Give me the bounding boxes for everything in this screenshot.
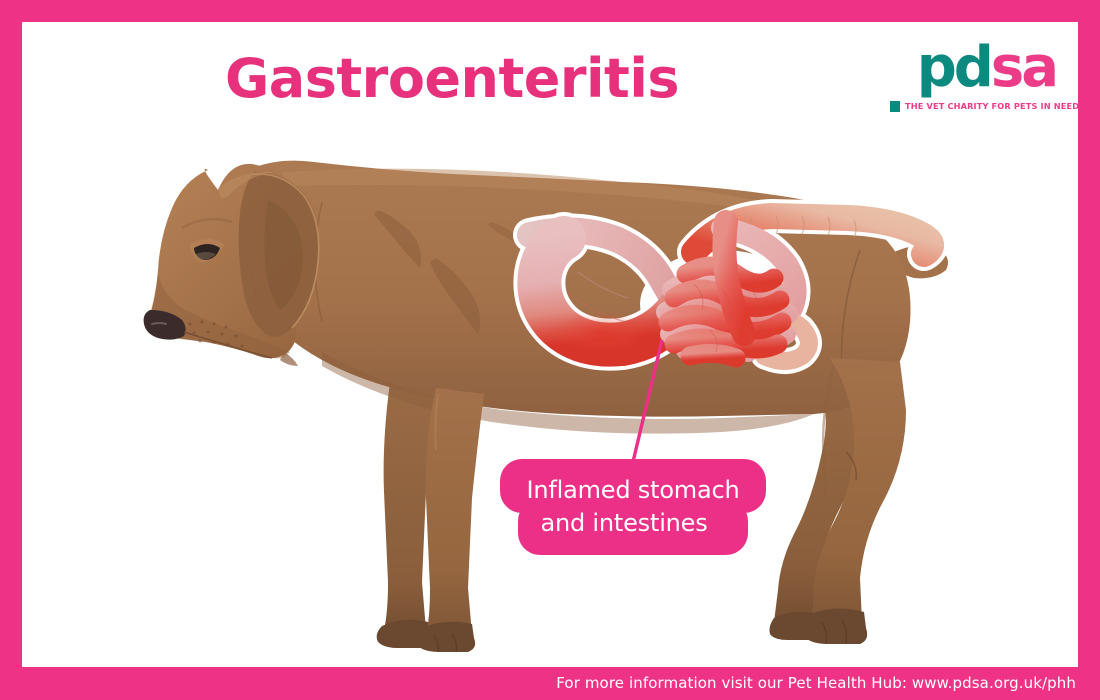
dog-illustration bbox=[22, 22, 1078, 667]
dog-paw-hind-near bbox=[802, 608, 867, 644]
poster-canvas: Gastroenteritis pdsa THE VET CHARITY FOR… bbox=[22, 22, 1078, 667]
footer-text: For more information visit our Pet Healt… bbox=[556, 674, 1076, 692]
footer-bar: For more information visit our Pet Healt… bbox=[0, 667, 1100, 700]
infographic-poster: Gastroenteritis pdsa THE VET CHARITY FOR… bbox=[0, 0, 1100, 700]
dog-head bbox=[144, 164, 319, 366]
